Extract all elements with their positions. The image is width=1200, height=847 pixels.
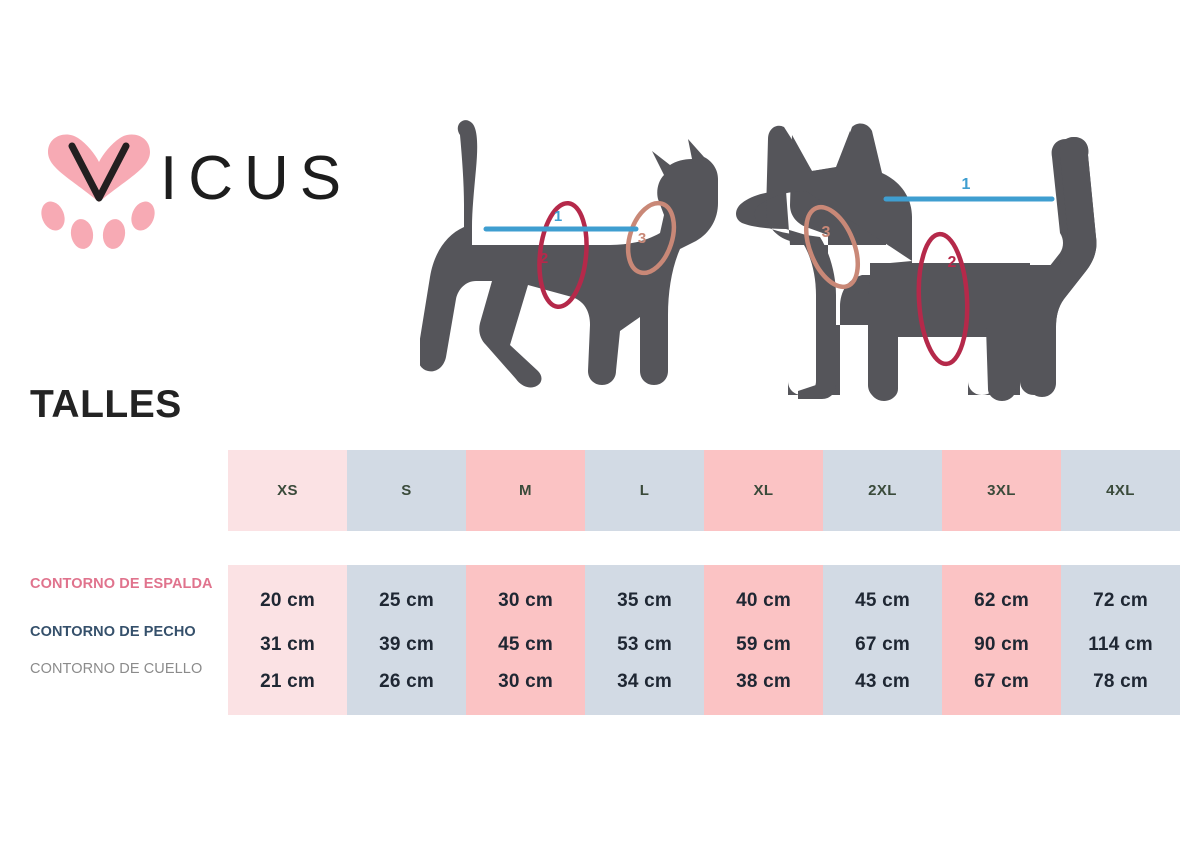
page-title: TALLES (30, 385, 182, 424)
cat-measure-1-label: 1 (554, 208, 562, 225)
dog-measure-2-label: 2 (948, 254, 957, 271)
measure-value: 59 cm (704, 623, 823, 666)
table-gap (228, 531, 1180, 565)
measure-value: 78 cm (1061, 666, 1180, 698)
size-column-m: 30 cm45 cm30 cm (466, 565, 585, 715)
size-column-s: 25 cm39 cm26 cm (347, 565, 466, 715)
cat-measure-2-label: 2 (540, 250, 548, 267)
dog-measure-3-label: 3 (822, 224, 831, 241)
measure-value: 31 cm (228, 623, 347, 666)
size-header-xl: XL (704, 450, 823, 531)
measure-value: 30 cm (466, 579, 585, 623)
measure-value: 43 cm (823, 666, 942, 698)
size-table-header-row: XSSMLXL2XL3XL4XL (228, 450, 1180, 531)
size-chart-page: ICUS 1 2 3 (0, 0, 1200, 847)
size-column-4xl: 72 cm114 cm78 cm (1061, 565, 1180, 715)
measure-value: 72 cm (1061, 579, 1180, 623)
size-header-l: L (585, 450, 704, 531)
paw-heart-logo-icon (40, 128, 158, 256)
measure-value: 30 cm (466, 666, 585, 698)
measure-value: 53 cm (585, 623, 704, 666)
measure-value: 114 cm (1061, 623, 1180, 666)
size-column-2xl: 45 cm67 cm43 cm (823, 565, 942, 715)
size-header-3xl: 3XL (942, 450, 1061, 531)
size-column-xs: 20 cm31 cm21 cm (228, 565, 347, 715)
cat-silhouette (420, 120, 718, 387)
row-label-contorno-de-espalda: CONTORNO DE ESPALDA (30, 576, 213, 592)
measure-value: 40 cm (704, 579, 823, 623)
measure-value: 21 cm (228, 666, 347, 698)
size-column-xl: 40 cm59 cm38 cm (704, 565, 823, 715)
size-column-l: 35 cm53 cm34 cm (585, 565, 704, 715)
row-label-contorno-de-cuello: CONTORNO DE CUELLO (30, 661, 202, 677)
cat-measure-3-label: 3 (638, 230, 646, 247)
size-header-2xl: 2XL (823, 450, 942, 531)
measure-value: 38 cm (704, 666, 823, 698)
size-table-data-row: 20 cm31 cm21 cm25 cm39 cm26 cm30 cm45 cm… (228, 565, 1180, 715)
measure-value: 20 cm (228, 579, 347, 623)
brand-wordmark: ICUS (160, 148, 352, 210)
measure-value: 67 cm (823, 623, 942, 666)
measure-value: 67 cm (942, 666, 1061, 698)
size-column-3xl: 62 cm90 cm67 cm (942, 565, 1061, 715)
size-header-xs: XS (228, 450, 347, 531)
measure-value: 26 cm (347, 666, 466, 698)
dog-silhouette (736, 124, 1097, 401)
measure-value: 45 cm (823, 579, 942, 623)
measure-value: 35 cm (585, 579, 704, 623)
measure-value: 25 cm (347, 579, 466, 623)
measure-value: 39 cm (347, 623, 466, 666)
dog-measure-1-label: 1 (962, 176, 971, 193)
measure-value: 34 cm (585, 666, 704, 698)
size-table: XSSMLXL2XL3XL4XL 20 cm31 cm21 cm25 cm39 … (228, 450, 1180, 715)
row-label-contorno-de-pecho: CONTORNO DE PECHO (30, 624, 196, 640)
brand-logo: ICUS (40, 128, 360, 258)
size-header-m: M (466, 450, 585, 531)
pet-measurement-diagram: 1 2 3 1 2 3 (420, 95, 1160, 430)
measure-value: 62 cm (942, 579, 1061, 623)
size-header-4xl: 4XL (1061, 450, 1180, 531)
measure-value: 90 cm (942, 623, 1061, 666)
measure-value: 45 cm (466, 623, 585, 666)
size-header-s: S (347, 450, 466, 531)
